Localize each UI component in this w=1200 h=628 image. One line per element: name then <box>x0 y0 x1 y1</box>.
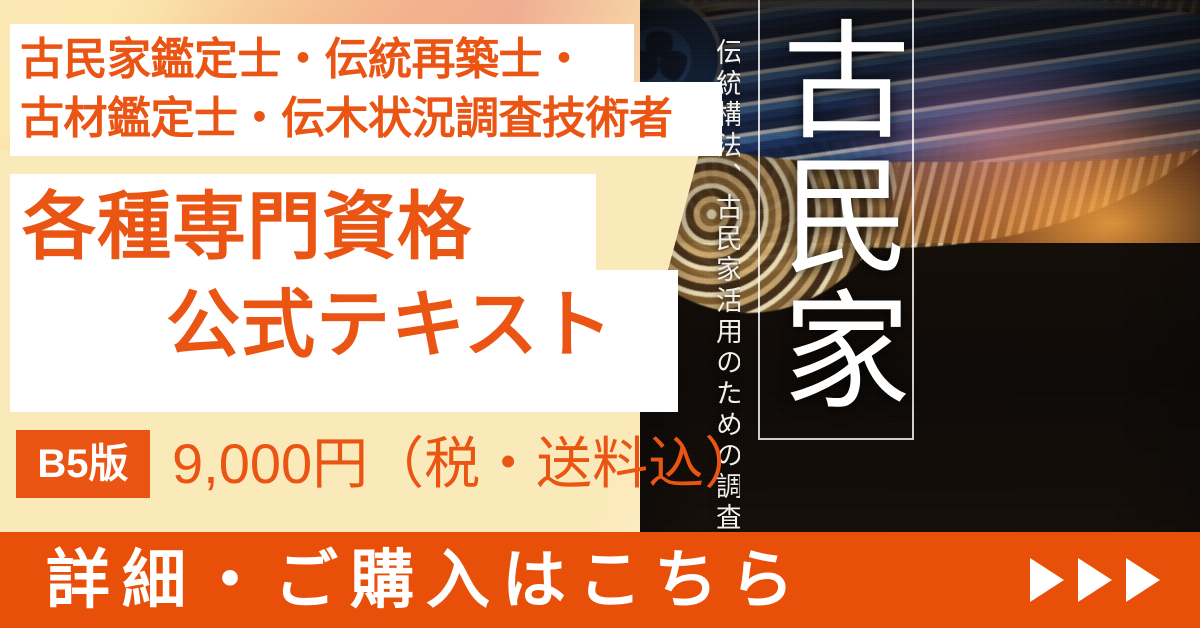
qualifications-line-1: 古民家鑑定士・伝統再築士・ <box>20 38 586 82</box>
play-arrow-icon <box>1078 558 1112 602</box>
promo-banner: 古民家 伝統構法、古民家活用のための調査と再生の 古民家鑑定士・伝統再築士・ 古… <box>0 0 1200 628</box>
cta-button-bar[interactable]: 詳細・ご購入はこちら <box>0 532 1200 628</box>
format-badge: B5版 <box>16 430 150 498</box>
play-arrow-icon <box>1126 558 1160 602</box>
heading-line-2: 公式テキスト <box>166 288 614 362</box>
qualifications-line-2: 古材鑑定士・伝木状況調査技術者 <box>20 97 673 141</box>
book-cover-title: 古民家 <box>772 14 898 434</box>
play-arrow-icon <box>1030 558 1064 602</box>
cta-label: 詳細・ご購入はこちら <box>46 548 806 612</box>
format-badge-label: B5版 <box>37 444 128 484</box>
heading-line-1: 各種専門資格 <box>22 190 472 264</box>
cta-arrow-group <box>1030 558 1160 602</box>
price-text: 9,000円（税・送料込） <box>172 432 760 496</box>
